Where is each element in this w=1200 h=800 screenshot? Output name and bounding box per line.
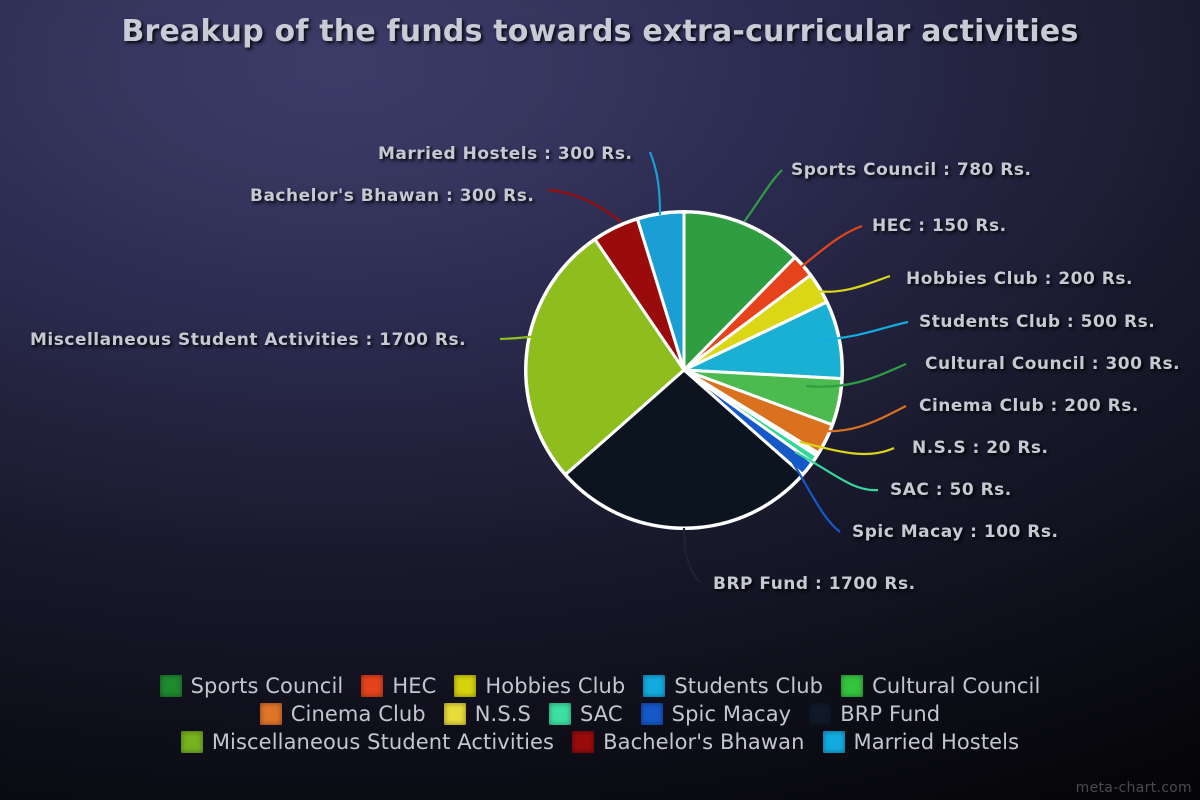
chart-canvas: Breakup of the funds towards extra-curri…: [0, 0, 1200, 800]
legend-item-miscellaneous-student-activities[interactable]: Miscellaneous Student Activities: [181, 730, 554, 754]
legend-label-cultural-council: Cultural Council: [872, 674, 1040, 698]
callout-hec: HEC : 150 Rs.: [872, 216, 1007, 236]
leader-line-miscellaneous: [500, 330, 565, 339]
legend-swatch-bachelor-s-bhawan: [572, 731, 594, 753]
pie-outer-rim: [524, 210, 844, 530]
pie-slice-spic-macay[interactable]: Spic Macay : 100 Rs.: [684, 370, 812, 475]
legend-swatch-hec: [361, 675, 383, 697]
pie-slice-hobbies-club[interactable]: Hobbies Club : 200 Rs.: [684, 275, 827, 370]
legend-item-married-hostels[interactable]: Married Hostels: [823, 730, 1020, 754]
legend-swatch-miscellaneous-student-activities: [181, 731, 203, 753]
callout-bachelors-bhawan: Bachelor's Bhawan : 300 Rs.: [250, 186, 534, 206]
legend-swatch-brp-fund: [809, 703, 831, 725]
legend-swatch-cinema-club: [260, 703, 282, 725]
leader-line-married-hostels: [650, 152, 660, 215]
callout-hobbies-club: Hobbies Club : 200 Rs.: [906, 269, 1133, 289]
pie-slice-brp-fund[interactable]: BRP Fund : 1700 Rs.: [566, 370, 803, 528]
pie-slice-n-s-s[interactable]: N.S.S : 20 Rs.: [684, 370, 818, 456]
callout-cinema-club: Cinema Club : 200 Rs.: [919, 396, 1139, 416]
legend-row-2: Cinema ClubN.S.SSACSpic MacayBRP Fund: [0, 700, 1200, 728]
legend-item-brp-fund[interactable]: BRP Fund: [809, 702, 940, 726]
legend-label-students-club: Students Club: [674, 674, 823, 698]
legend-swatch-spic-macay: [641, 703, 663, 725]
callout-sports-council: Sports Council : 780 Rs.: [791, 160, 1031, 180]
legend-item-bachelor-s-bhawan[interactable]: Bachelor's Bhawan: [572, 730, 804, 754]
callout-spic-macay: Spic Macay : 100 Rs.: [852, 522, 1058, 542]
pie-slice-sports-council[interactable]: Sports Council : 780 Rs.: [684, 212, 795, 370]
legend-item-sports-council[interactable]: Sports Council: [160, 674, 344, 698]
legend-item-n-s-s[interactable]: N.S.S: [444, 702, 531, 726]
leader-line-brp-fund: [684, 528, 700, 582]
page-title: Breakup of the funds towards extra-curri…: [0, 14, 1200, 49]
pie-slice-cinema-club[interactable]: Cinema Club : 200 Rs.: [684, 370, 832, 453]
callout-miscellaneous-student-activities: Miscellaneous Student Activities : 1700 …: [30, 330, 466, 350]
legend-item-spic-macay[interactable]: Spic Macay: [641, 702, 792, 726]
leader-line-nss: [800, 442, 894, 454]
legend-item-hobbies-club[interactable]: Hobbies Club: [454, 674, 625, 698]
legend-swatch-students-club: [643, 675, 665, 697]
pie-slice-group: Sports Council : 780 Rs.HEC : 150 Rs.Hob…: [524, 210, 844, 530]
leader-line-hobbies-club: [806, 276, 890, 292]
callout-brp-fund: BRP Fund : 1700 Rs.: [713, 574, 916, 594]
leader-line-bachelors-bhawan: [548, 190, 621, 222]
legend-item-cinema-club[interactable]: Cinema Club: [260, 702, 426, 726]
legend-swatch-n-s-s: [444, 703, 466, 725]
callout-married-hostels: Married Hostels : 300 Rs.: [378, 144, 632, 164]
legend-label-n-s-s: N.S.S: [475, 702, 531, 726]
pie-slice-hec[interactable]: HEC : 150 Rs.: [684, 257, 810, 370]
pie-slice-students-club[interactable]: Students Club : 500 Rs.: [684, 302, 842, 379]
legend-row-1: Sports CouncilHECHobbies ClubStudents Cl…: [0, 672, 1200, 700]
legend-label-sports-council: Sports Council: [191, 674, 344, 698]
callout-nss: N.S.S : 20 Rs.: [912, 438, 1049, 458]
pie-slice-miscellaneous-student-activities[interactable]: Miscellaneous Student Activities : 1700 …: [526, 239, 684, 474]
pie-slice-bachelor-s-bhawan[interactable]: Bachelor's Bhawan : 300 Rs.: [595, 219, 684, 370]
leader-line-sac: [795, 452, 878, 490]
legend-label-cinema-club: Cinema Club: [291, 702, 426, 726]
leader-line-spic-macay: [790, 458, 840, 532]
legend-item-cultural-council[interactable]: Cultural Council: [841, 674, 1040, 698]
callout-students-club: Students Club : 500 Rs.: [919, 312, 1155, 332]
leader-line-group: [500, 152, 908, 582]
legend-label-hobbies-club: Hobbies Club: [485, 674, 625, 698]
leader-line-sports-council: [744, 170, 782, 222]
legend-label-miscellaneous-student-activities: Miscellaneous Student Activities: [212, 730, 554, 754]
legend-item-sac[interactable]: SAC: [549, 702, 623, 726]
leader-line-cultural-council: [806, 364, 906, 387]
callout-sac: SAC : 50 Rs.: [890, 480, 1012, 500]
legend: Sports CouncilHECHobbies ClubStudents Cl…: [0, 672, 1200, 756]
legend-label-hec: HEC: [392, 674, 436, 698]
legend-row-3: Miscellaneous Student ActivitiesBachelor…: [0, 728, 1200, 756]
legend-label-brp-fund: BRP Fund: [840, 702, 940, 726]
leader-line-students-club: [820, 322, 908, 340]
legend-label-married-hostels: Married Hostels: [854, 730, 1020, 754]
legend-swatch-sac: [549, 703, 571, 725]
legend-item-students-club[interactable]: Students Club: [643, 674, 823, 698]
callout-cultural-council: Cultural Council : 300 Rs.: [925, 354, 1180, 374]
legend-label-bachelor-s-bhawan: Bachelor's Bhawan: [603, 730, 804, 754]
pie-slice-married-hostels[interactable]: Married Hostels : 300 Rs.: [637, 212, 684, 370]
watermark: meta-chart.com: [1076, 780, 1192, 796]
leader-line-cinema-club: [812, 406, 906, 431]
legend-swatch-cultural-council: [841, 675, 863, 697]
leader-line-hec: [800, 226, 862, 268]
legend-item-hec[interactable]: HEC: [361, 674, 436, 698]
legend-swatch-married-hostels: [823, 731, 845, 753]
pie-slice-sac[interactable]: SAC : 50 Rs.: [684, 370, 817, 462]
legend-swatch-sports-council: [160, 675, 182, 697]
legend-label-sac: SAC: [580, 702, 623, 726]
legend-label-spic-macay: Spic Macay: [672, 702, 792, 726]
legend-swatch-hobbies-club: [454, 675, 476, 697]
pie-slice-cultural-council[interactable]: Cultural Council : 300 Rs.: [684, 370, 842, 425]
